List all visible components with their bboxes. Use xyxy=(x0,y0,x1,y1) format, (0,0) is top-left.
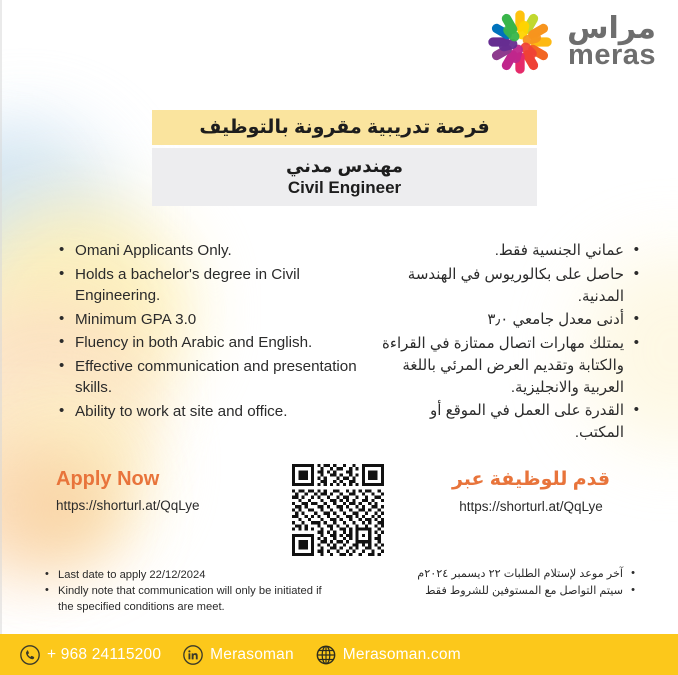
brand-name-en: meras xyxy=(568,41,656,70)
apply-url-ar[interactable]: https://shorturl.at/QqLye xyxy=(426,499,636,514)
phone-icon xyxy=(20,645,40,665)
requirements-list-en: Omani Applicants Only. Holds a bachelor'… xyxy=(58,240,358,423)
requirement-item: Effective communication and presentation… xyxy=(58,356,358,399)
requirement-item: Omani Applicants Only. xyxy=(58,240,358,262)
note-item: Last date to apply 22/12/2024 xyxy=(44,568,334,584)
requirement-item: Fluency in both Arabic and English. xyxy=(58,332,358,354)
tagline-banner: فرصة تدريبية مقرونة بالتوظيف xyxy=(152,110,537,145)
notes-english: Last date to apply 22/12/2024 Kindly not… xyxy=(44,568,334,616)
left-edge-line xyxy=(0,0,2,675)
contact-bar: + 968 24115200 Merasoman Merasoman.com xyxy=(0,634,678,675)
requirements-list-ar: عماني الجنسية فقط. حاصل على بكالوريوس في… xyxy=(380,240,640,444)
apply-section-arabic: قدم للوظيفة عبر https://shorturl.at/QqLy… xyxy=(426,468,636,514)
requirement-item: Ability to work at site and office. xyxy=(58,401,358,423)
website-url: Merasoman.com xyxy=(343,646,461,664)
requirement-item: Minimum GPA 3.0 xyxy=(58,309,358,331)
job-posting-poster: مراس meras فرصة تدريبية مقرونة بالتوظيف … xyxy=(0,0,678,675)
requirement-item: حاصل على بكالوريوس في الهندسة المدنية. xyxy=(380,264,640,308)
requirement-item: أدنى معدل جامعي ٣٫٠ xyxy=(380,309,640,331)
notes-list-ar: آخر موعد لإستلام الطلبات ٢٢ ديسمبر ٢٠٢٤م… xyxy=(356,566,636,600)
apply-section-english: Apply Now https://shorturl.at/QqLye xyxy=(56,468,256,513)
tagline-text: فرصة تدريبية مقرونة بالتوظيف xyxy=(199,116,489,139)
requirements-arabic: عماني الجنسية فقط. حاصل على بكالوريوس في… xyxy=(380,240,640,446)
apply-now-heading: Apply Now xyxy=(56,468,256,491)
notes-arabic: آخر موعد لإستلام الطلبات ٢٢ ديسمبر ٢٠٢٤م… xyxy=(356,566,636,600)
requirement-item: عماني الجنسية فقط. xyxy=(380,240,640,262)
linkedin-icon xyxy=(183,645,203,665)
meras-flower-logo-icon xyxy=(483,6,557,78)
note-item: آخر موعد لإستلام الطلبات ٢٢ ديسمبر ٢٠٢٤م xyxy=(356,566,636,583)
qr-code-icon[interactable] xyxy=(292,464,384,556)
requirements-english: Omani Applicants Only. Holds a bachelor'… xyxy=(58,240,358,425)
note-item: Kindly note that communication will only… xyxy=(44,584,334,616)
job-title-banner: مهندس مدني Civil Engineer xyxy=(152,148,537,206)
contact-website[interactable]: Merasoman.com xyxy=(316,645,461,665)
requirement-item: يمتلك مهارات اتصال ممتازة في القراءة وال… xyxy=(380,333,640,398)
requirement-item: Holds a bachelor's degree in Civil Engin… xyxy=(58,264,358,307)
job-title-ar: مهندس مدني xyxy=(286,156,403,177)
linkedin-handle: Merasoman xyxy=(210,646,294,664)
globe-icon xyxy=(316,645,336,665)
requirement-item: القدرة على العمل في الموقع أو المكتب. xyxy=(380,400,640,444)
apply-now-heading-ar: قدم للوظيفة عبر xyxy=(426,468,636,491)
qr-code-svg xyxy=(292,464,384,556)
job-title-en: Civil Engineer xyxy=(288,178,401,198)
apply-url-en[interactable]: https://shorturl.at/QqLye xyxy=(56,498,256,513)
brand-logo: مراس meras xyxy=(483,6,656,78)
notes-list-en: Last date to apply 22/12/2024 Kindly not… xyxy=(44,568,334,616)
contact-linkedin[interactable]: Merasoman xyxy=(183,645,294,665)
phone-number: + 968 24115200 xyxy=(47,646,161,664)
contact-phone[interactable]: + 968 24115200 xyxy=(20,645,161,665)
note-item: سيتم التواصل مع المستوفين للشروط فقط xyxy=(356,583,636,600)
decorative-blob-cyan xyxy=(0,150,50,280)
